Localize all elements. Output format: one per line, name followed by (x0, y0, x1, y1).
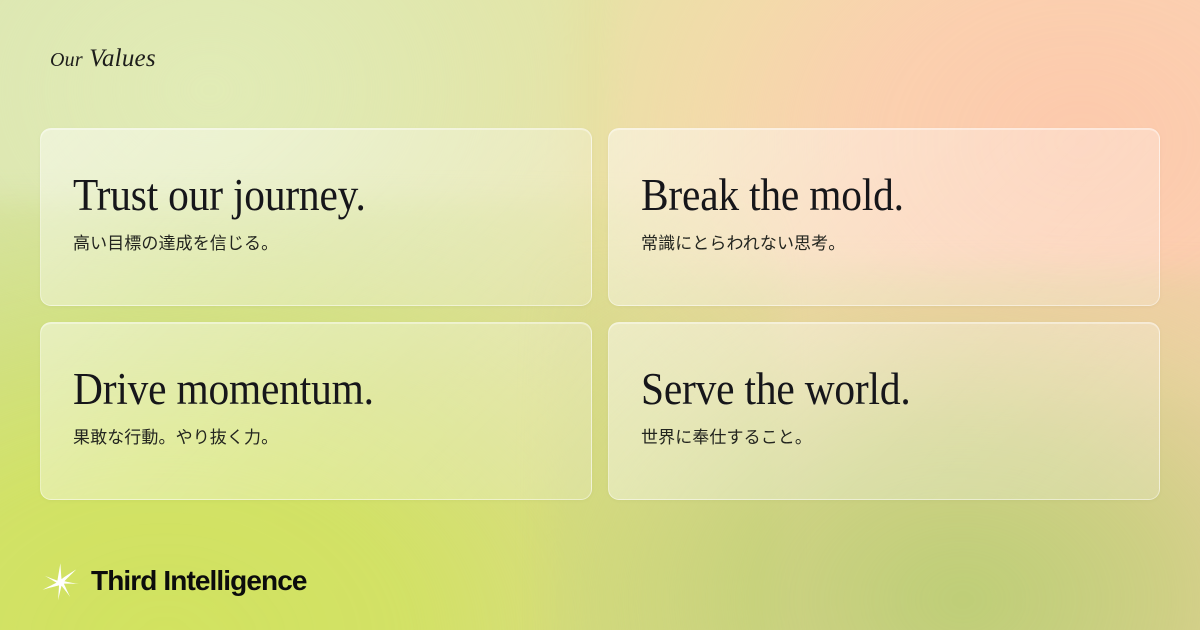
page-title-rest: Values (89, 45, 155, 72)
values-slide: Our Values Trust our journey. 高い目標の達成を信じ… (0, 0, 1200, 630)
brand-logo[interactable]: Third Intelligence (38, 559, 307, 603)
value-card-title: Trust our journey. (73, 173, 550, 219)
value-card-trust-our-journey[interactable]: Trust our journey. 高い目標の達成を信じる。 (40, 128, 592, 306)
value-card-subtitle: 果敢な行動。やり抜く力。 (73, 427, 591, 451)
sparkle-star-icon (38, 559, 82, 603)
value-card-subtitle: 世界に奉仕すること。 (641, 427, 1159, 451)
page-title: Our Values (50, 46, 156, 71)
value-card-title: Serve the world. (641, 367, 1118, 413)
value-card-title: Drive momentum. (73, 367, 550, 413)
slide-content: Our Values Trust our journey. 高い目標の達成を信じ… (0, 0, 1200, 630)
value-card-drive-momentum[interactable]: Drive momentum. 果敢な行動。やり抜く力。 (40, 322, 592, 500)
value-card-break-the-mold[interactable]: Break the mold. 常識にとらわれない思考。 (608, 128, 1160, 306)
value-card-subtitle: 常識にとらわれない思考。 (641, 233, 1159, 257)
value-card-serve-the-world[interactable]: Serve the world. 世界に奉仕すること。 (608, 322, 1160, 500)
brand-name: Third Intelligence (91, 567, 307, 595)
page-title-lead: Our (50, 49, 83, 71)
values-card-grid: Trust our journey. 高い目標の達成を信じる。 Break th… (40, 128, 1160, 500)
value-card-subtitle: 高い目標の達成を信じる。 (73, 233, 591, 257)
value-card-title: Break the mold. (641, 173, 1118, 219)
